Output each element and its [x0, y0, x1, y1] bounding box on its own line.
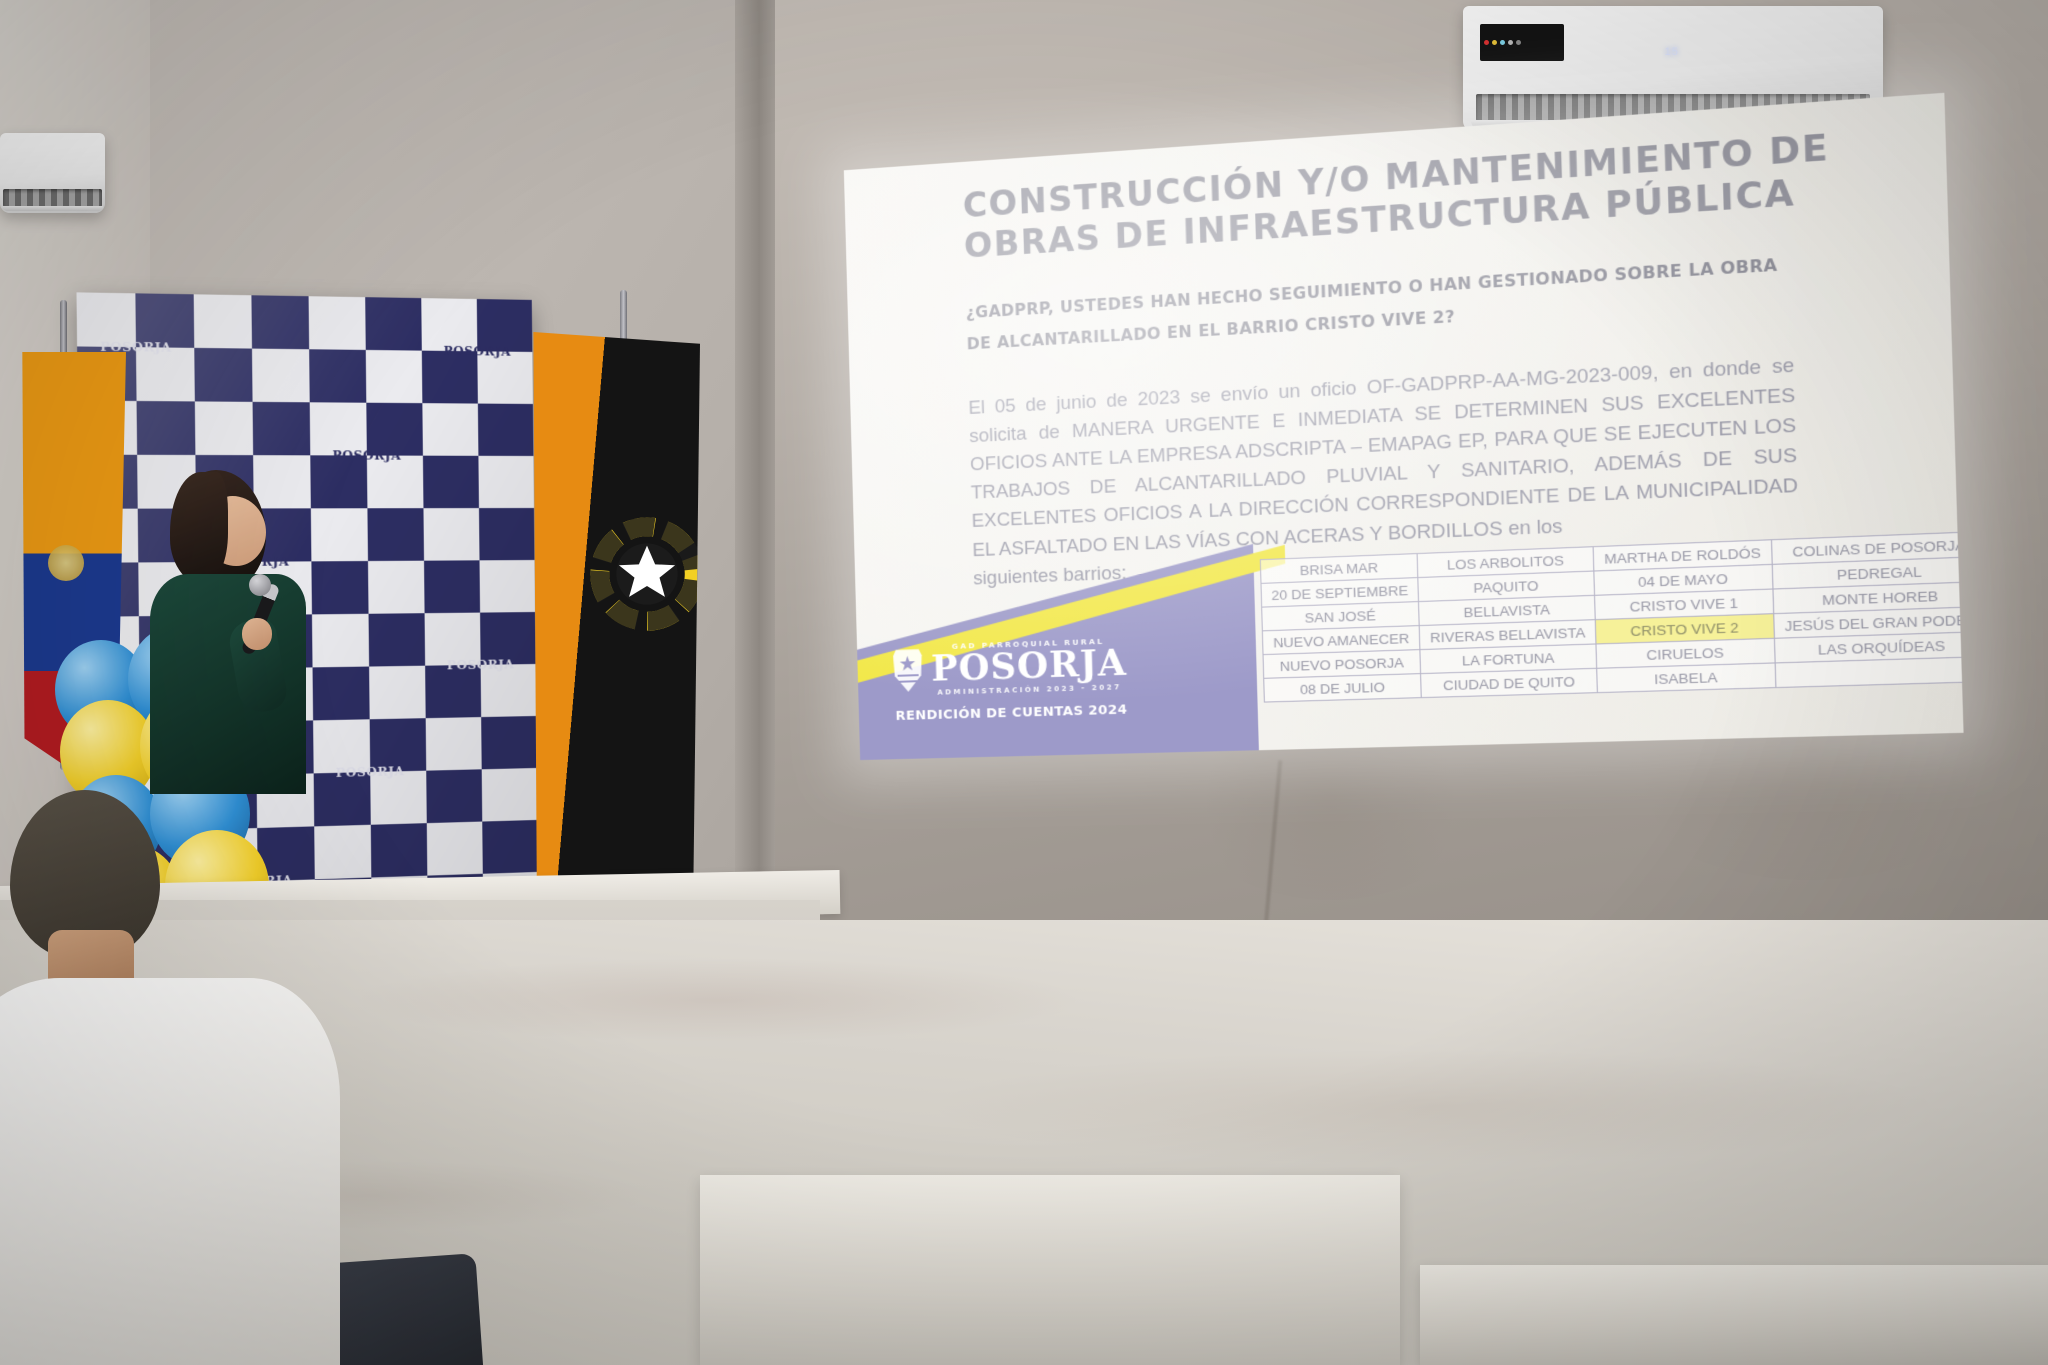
slide-question: ¿GADPRP, USTEDES HAN HECHO SEGUIMIENTO O…	[965, 249, 1781, 360]
microphone-head	[249, 574, 271, 596]
ac-control-panel	[1480, 24, 1564, 62]
presenter-hand	[242, 618, 272, 650]
audience-member	[0, 790, 410, 1365]
stage-step-block	[1420, 1265, 2048, 1365]
air-conditioner-unit-secondary[interactable]	[0, 133, 105, 213]
shield-icon: ★	[893, 649, 923, 692]
table-cell: 08 DE JULIO	[1264, 674, 1422, 702]
barrios-table: BRISA MARLOS ARBOLITOSMARTHA DE ROLDÓSCO…	[1260, 531, 1964, 703]
audience-white-shirt	[0, 978, 340, 1365]
table-cell: ISABELA	[1597, 663, 1775, 693]
slide-body-paragraph: El 05 de junio de 2023 se envío un ofici…	[968, 354, 1798, 560]
presenter-hair-front	[170, 472, 228, 582]
posorja-flag	[530, 332, 700, 922]
projected-slide: CONSTRUCCIÓN Y/O MANTENIMIENTO DE OBRAS …	[844, 93, 1964, 760]
table-cell-empty	[1775, 656, 1964, 687]
ecuador-coat-of-arms	[48, 545, 84, 581]
gear-star-emblem-icon	[588, 515, 706, 633]
wall-column	[735, 0, 775, 940]
logo-brand: POSORJA	[931, 645, 1128, 687]
presentation-room-photo: 15 CONSTRUCCIÓN Y/O MANTENIMIENTO DE OBR…	[0, 0, 2048, 1365]
table-cell: CIUDAD DE QUITO	[1421, 668, 1598, 697]
ac-louver	[3, 189, 102, 207]
stage-step-block	[700, 1175, 1400, 1365]
presenter-person	[150, 470, 330, 790]
posorja-logo-block: ★ GAD PARROQUIAL RURAL POSORJA ADMINISTR…	[893, 636, 1129, 723]
ac-temperature-display: 15	[1665, 46, 1679, 58]
ac-bottom-lip	[2, 206, 103, 212]
